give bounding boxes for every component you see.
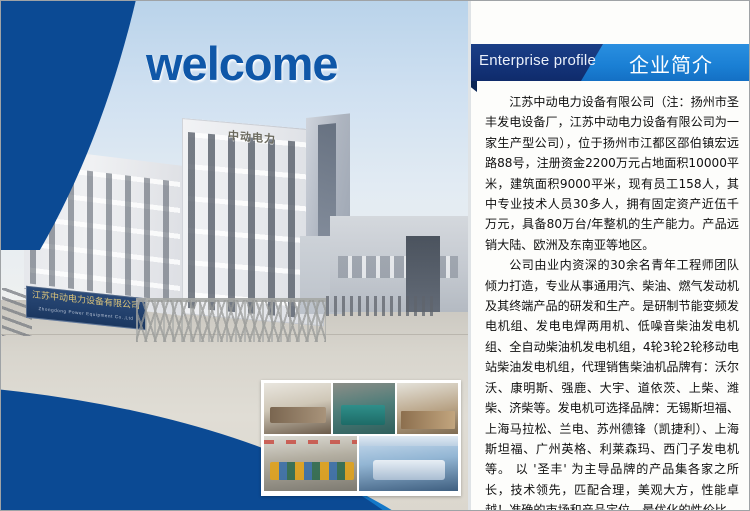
retractable-gate (136, 300, 326, 342)
collage-row-top (264, 383, 458, 434)
collage-row-bottom (264, 436, 458, 491)
panel-content: Enterprise profile 企业简介 江苏中动电力设备有限公司（注：扬… (471, 0, 750, 511)
enterprise-profile-panel: Enterprise profile 企业简介 江苏中动电力设备有限公司（注：扬… (468, 0, 750, 511)
swoosh-dark-blue-top (0, 0, 170, 250)
company-description: 江苏中动电力设备有限公司（注：扬州市圣丰发电设备厂，江苏中动电力设备有限公司为一… (485, 92, 739, 511)
perimeter-fence (326, 296, 436, 316)
ribbon-fold-corner (471, 81, 477, 92)
paragraph-products-and-brands: 公司由业内资深的30余名青年工程师团队倾力打造，专业从事通用汽、柴油、燃气发动机… (485, 255, 739, 511)
promo-banner: 中动电力 江苏中动电力设备有限公司 Zhongdong Power Equipm… (0, 0, 750, 511)
hero-photo-area: 中动电力 江苏中动电力设备有限公司 Zhongdong Power Equipm… (0, 0, 468, 511)
office-reception-photo (397, 383, 458, 434)
photo-collage (261, 380, 461, 496)
meeting-room-photo (264, 383, 331, 434)
conference-hall-photo (359, 436, 458, 491)
section-title-chinese: 企业简介 (629, 49, 713, 78)
generator-set-photo (333, 383, 394, 434)
warehouse-windows (338, 256, 458, 278)
welcome-headline: welcome (146, 36, 338, 91)
section-ribbon-header: Enterprise profile 企业简介 (471, 44, 750, 81)
factory-workshop-photo (264, 436, 357, 491)
section-title-english: Enterprise profile (479, 52, 596, 69)
paragraph-company-overview: 江苏中动电力设备有限公司（注：扬州市圣丰发电设备厂，江苏中动电力设备有限公司为一… (485, 92, 739, 255)
